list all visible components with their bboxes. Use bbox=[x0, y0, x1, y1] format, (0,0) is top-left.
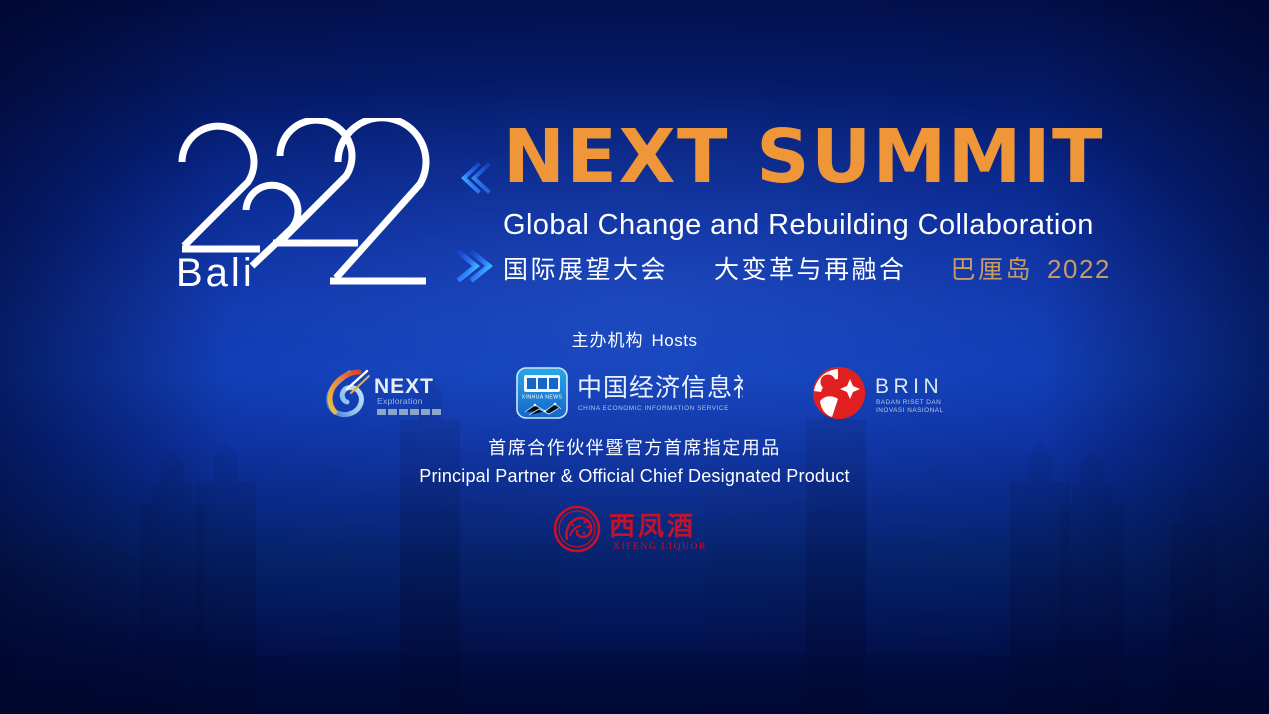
main-title: NEXT SUMMIT bbox=[503, 120, 1123, 194]
logo-2022-bali: Bali bbox=[168, 118, 440, 298]
ceis-wordmark-en: CHINA ECONOMIC INFORMATION SERVICE bbox=[578, 405, 729, 412]
double-chevron-right-icon bbox=[454, 245, 498, 287]
host-logo-brin[interactable]: BRIN BADAN RISET DAN INOVASI NASIONAL bbox=[811, 365, 953, 421]
next-wordmark: NEXT bbox=[374, 375, 434, 398]
next-tagline: Exploration bbox=[377, 396, 423, 406]
svg-text:Bali: Bali bbox=[176, 251, 255, 295]
xifeng-wordmark-cn: 西凤酒 bbox=[609, 512, 696, 542]
hosts-section: 主办机构Hosts bbox=[0, 326, 1269, 421]
title-block: NEXT SUMMIT Global Change and Rebuilding… bbox=[503, 120, 1123, 286]
brin-tagline-line1: BADAN RISET DAN bbox=[876, 399, 941, 406]
partner-label-cn: 首席合作伙伴暨官方首席指定用品 bbox=[0, 434, 1269, 460]
ceis-wordmark-cn: 中国经济信息社 bbox=[577, 373, 743, 402]
subtitle-chinese-row: 国际展望大会 大变革与再融合 巴厘岛 2022 bbox=[503, 250, 1123, 286]
partner-label-en: Principal Partner & Official Chief Desig… bbox=[0, 466, 1269, 487]
subtitle-year: 2022 bbox=[1047, 254, 1111, 285]
hosts-label: 主办机构Hosts bbox=[0, 326, 1269, 351]
brin-tagline-line2: INOVASI NASIONAL bbox=[876, 407, 944, 414]
next-tagline-cn bbox=[377, 409, 441, 415]
poster-stage: Bali bbox=[0, 0, 1269, 714]
host-logo-row: NEXT Exploration bbox=[0, 365, 1269, 421]
poster-header: Bali bbox=[0, 0, 1269, 320]
subtitle-english: Global Change and Rebuilding Collaborati… bbox=[503, 210, 1123, 242]
svg-text:XINHUA NEWS: XINHUA NEWS bbox=[521, 395, 562, 401]
host-logo-next-exploration[interactable]: NEXT Exploration bbox=[317, 367, 447, 419]
xinhua-badge-icon: XINHUA NEWS bbox=[517, 368, 567, 418]
hosts-label-en: Hosts bbox=[652, 331, 698, 350]
brin-wordmark: BRIN bbox=[875, 375, 943, 398]
subtitle-place-chinese: 巴厘岛 bbox=[951, 250, 1034, 286]
subtitle-chinese-secondary: 大变革与再融合 bbox=[714, 250, 907, 286]
partner-section: 首席合作伙伴暨官方首席指定用品 Principal Partner & Offi… bbox=[0, 434, 1269, 559]
subtitle-chinese-primary: 国际展望大会 bbox=[503, 250, 668, 286]
double-chevron-left-icon bbox=[452, 158, 492, 198]
brin-emblem-icon bbox=[813, 367, 865, 419]
xifeng-wordmark-en: XIFENG LIQUOR bbox=[613, 542, 707, 552]
next-emblem-icon bbox=[328, 371, 368, 415]
host-logo-china-economic-information-service[interactable]: XINHUA NEWS 中国经济信息社 CHINA ECONOMIC INFOR… bbox=[515, 366, 743, 420]
partner-logo-xifeng[interactable]: 西凤酒 XIFENG LIQUOR bbox=[0, 503, 1269, 559]
hosts-label-cn: 主办机构 bbox=[572, 331, 644, 351]
chevron-group bbox=[448, 150, 500, 295]
xifeng-seal-icon bbox=[555, 507, 599, 551]
